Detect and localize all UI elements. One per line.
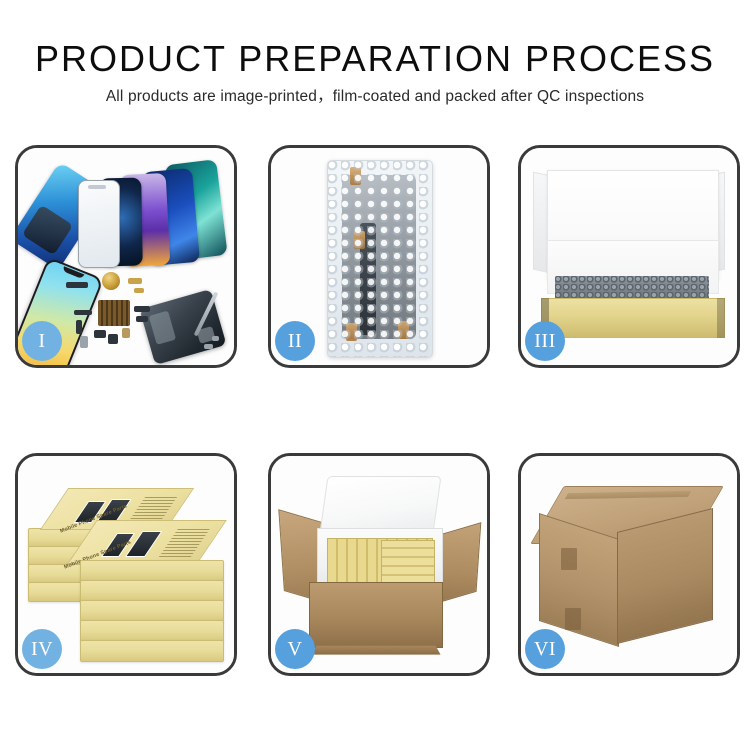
spare-part-graphic [212, 336, 219, 341]
spare-part-graphic [74, 310, 92, 315]
screw-tray-graphic [98, 300, 130, 326]
box-spec-text-graphic [159, 529, 210, 557]
spare-part-graphic [76, 320, 82, 334]
spare-part-graphic [134, 288, 144, 293]
spare-part-graphic [108, 334, 118, 344]
step-badge-2: II [275, 321, 315, 361]
process-step-panel-3[interactable]: III [518, 145, 740, 368]
process-step-panel-5[interactable]: V [268, 453, 490, 676]
spare-part-graphic [66, 282, 88, 288]
process-step-panel-2[interactable]: II [268, 145, 490, 368]
step-badge-5: V [275, 629, 315, 669]
box-edge-graphic [80, 560, 224, 582]
box-edge-graphic [80, 620, 224, 642]
spare-part-graphic [136, 316, 148, 322]
step-badge-4: IV [22, 629, 62, 669]
wrapped-part-graphic [342, 175, 416, 339]
box-edge-graphic [80, 600, 224, 622]
step-badge-6: VI [525, 629, 565, 669]
tape-tab-graphic [398, 321, 409, 339]
process-step-panel-1[interactable]: I [15, 145, 237, 368]
box-edge-graphic [80, 640, 224, 662]
tempered-glass-graphic [78, 180, 120, 268]
tape-tab-graphic [354, 231, 365, 249]
spare-part-graphic [80, 336, 88, 348]
process-step-panel-4[interactable]: Mobile Phone Spare Parts Mobile Phone Sp… [15, 453, 237, 676]
tape-tab-graphic [350, 167, 361, 185]
page-header: PRODUCT PREPARATION PROCESS All products… [0, 0, 750, 107]
speaker-part-graphic [102, 272, 120, 290]
carton-right-face-graphic [617, 508, 713, 644]
spare-part-graphic [128, 278, 142, 284]
step-badge-3: III [525, 321, 565, 361]
yellow-boxes-row-graphic [381, 540, 435, 584]
step-badge-1: I [22, 321, 62, 361]
carton-front-graphic [309, 582, 443, 648]
process-step-grid: I II [15, 145, 740, 676]
page-title: PRODUCT PREPARATION PROCESS [0, 0, 750, 80]
box-edge-graphic [80, 580, 224, 602]
spare-part-graphic [204, 344, 213, 349]
carton-tape-graphic [561, 548, 577, 570]
tape-tab-graphic [346, 323, 357, 341]
page-subtitle: All products are image-printed，film-coat… [0, 80, 750, 107]
bubble-wrap-bag-graphic [327, 160, 433, 358]
yellow-box-base-graphic [541, 298, 725, 338]
spare-part-graphic [94, 330, 106, 338]
spare-part-graphic [134, 306, 150, 312]
process-step-panel-6[interactable]: VI [518, 453, 740, 676]
spare-part-graphic [122, 328, 130, 338]
carton-tape-graphic [565, 608, 581, 630]
